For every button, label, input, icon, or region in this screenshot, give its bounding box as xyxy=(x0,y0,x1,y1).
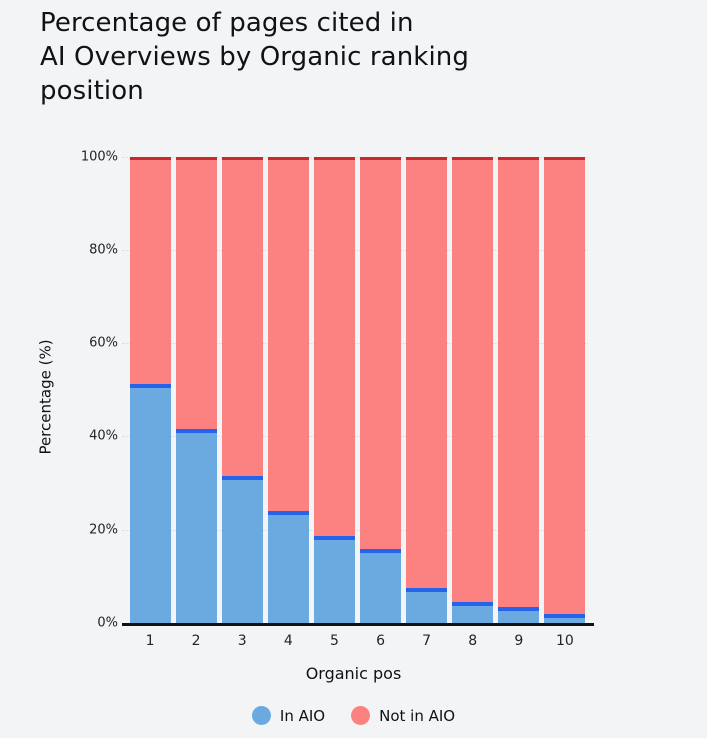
bar-group[interactable] xyxy=(406,145,447,623)
x-tick-label: 8 xyxy=(452,633,493,649)
legend-swatch-circle-icon xyxy=(351,706,370,725)
y-tick-label: 60% xyxy=(48,336,118,351)
bar-segment-not-in-aio[interactable] xyxy=(314,157,355,536)
bar-segment-in-aio[interactable] xyxy=(498,607,539,623)
bar-group[interactable] xyxy=(176,145,217,623)
x-tick-label: 10 xyxy=(544,633,585,649)
bar-segment-in-aio[interactable] xyxy=(222,476,263,623)
legend-item[interactable]: In AIO xyxy=(252,706,325,725)
bar-segment-in-aio[interactable] xyxy=(314,536,355,623)
chart-title: Percentage of pages cited in AI Overview… xyxy=(40,6,640,108)
legend-item[interactable]: Not in AIO xyxy=(351,706,455,725)
bar-segment-not-in-aio[interactable] xyxy=(498,157,539,607)
y-tick-label: 80% xyxy=(48,242,118,257)
legend-swatch-circle-icon xyxy=(252,706,271,725)
bar-group[interactable] xyxy=(130,145,171,623)
x-tick-label: 3 xyxy=(222,633,263,649)
bar-group[interactable] xyxy=(222,145,263,623)
bar-segment-in-aio[interactable] xyxy=(452,602,493,623)
x-tick-label: 6 xyxy=(360,633,401,649)
y-tick-label: 100% xyxy=(48,149,118,164)
x-tick-label: 5 xyxy=(314,633,355,649)
bar-segment-not-in-aio[interactable] xyxy=(452,157,493,602)
x-axis-line xyxy=(122,623,594,626)
bar-segment-not-in-aio[interactable] xyxy=(176,157,217,430)
bar-segment-not-in-aio[interactable] xyxy=(222,157,263,476)
bar-segment-not-in-aio[interactable] xyxy=(406,157,447,588)
plot-area xyxy=(127,145,588,623)
bar-group[interactable] xyxy=(360,145,401,623)
bar-group[interactable] xyxy=(452,145,493,623)
chart-container: Percentage of pages cited in AI Overview… xyxy=(0,0,707,738)
bar-segment-not-in-aio[interactable] xyxy=(544,157,585,614)
bar-group[interactable] xyxy=(544,145,585,623)
bar-segment-in-aio[interactable] xyxy=(130,384,171,623)
x-tick-label: 7 xyxy=(406,633,447,649)
legend-label: Not in AIO xyxy=(379,707,455,725)
bar-segment-not-in-aio[interactable] xyxy=(130,157,171,385)
y-axis-label: Percentage (%) xyxy=(37,339,55,454)
y-tick-label: 40% xyxy=(48,429,118,444)
x-tick-label: 2 xyxy=(176,633,217,649)
y-tick-label: 20% xyxy=(48,522,118,537)
bar-segment-in-aio[interactable] xyxy=(544,614,585,623)
bar-segment-in-aio[interactable] xyxy=(360,549,401,623)
bar-segment-not-in-aio[interactable] xyxy=(268,157,309,511)
y-tick-label: 0% xyxy=(48,616,118,631)
x-tick-label: 1 xyxy=(130,633,171,649)
x-tick-label: 4 xyxy=(268,633,309,649)
bar-segment-in-aio[interactable] xyxy=(406,588,447,623)
bar-segment-in-aio[interactable] xyxy=(268,511,309,623)
bar-group[interactable] xyxy=(268,145,309,623)
bar-group[interactable] xyxy=(314,145,355,623)
bar-segment-not-in-aio[interactable] xyxy=(360,157,401,549)
chart-legend: In AIONot in AIO xyxy=(0,706,707,725)
legend-label: In AIO xyxy=(280,707,325,725)
x-tick-label: 9 xyxy=(498,633,539,649)
x-axis-label: Organic pos xyxy=(0,664,707,683)
bar-group[interactable] xyxy=(498,145,539,623)
bar-segment-in-aio[interactable] xyxy=(176,429,217,623)
